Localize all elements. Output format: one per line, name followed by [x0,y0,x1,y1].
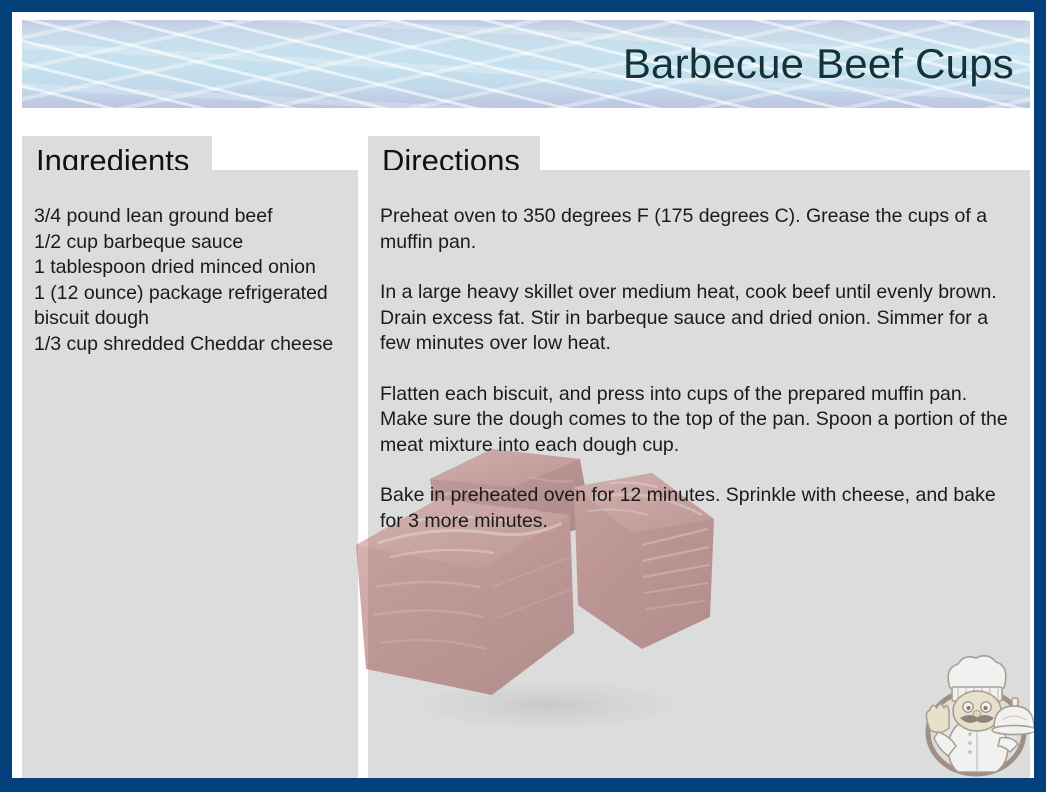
direction-step: Bake in preheated oven for 12 minutes. S… [380,483,1012,534]
page-title: Barbecue Beef Cups [623,40,1014,88]
list-item: 1 tablespoon dried minced onion [34,255,358,281]
list-item: 1/3 cup shredded Cheddar cheese [34,332,358,358]
direction-step: Flatten each biscuit, and press into cup… [380,382,1012,459]
list-item: 1 (12 ounce) package refrigerated biscui… [34,281,358,332]
slide-page: Barbecue Beef Cups Ingredients 3/4 pound… [12,12,1034,778]
ingredients-list: 3/4 pound lean ground beef 1/2 cup barbe… [34,204,358,357]
direction-step: Preheat oven to 350 degrees F (175 degre… [380,204,1012,255]
list-item: 3/4 pound lean ground beef [34,204,358,230]
list-item: 1/2 cup barbeque sauce [34,230,358,256]
direction-step: In a large heavy skillet over medium hea… [380,280,1012,357]
header-banner: Barbecue Beef Cups [22,20,1030,108]
recipe-slide: Barbecue Beef Cups Ingredients 3/4 pound… [0,0,1046,792]
directions-steps: Preheat oven to 350 degrees F (175 degre… [380,204,1012,534]
